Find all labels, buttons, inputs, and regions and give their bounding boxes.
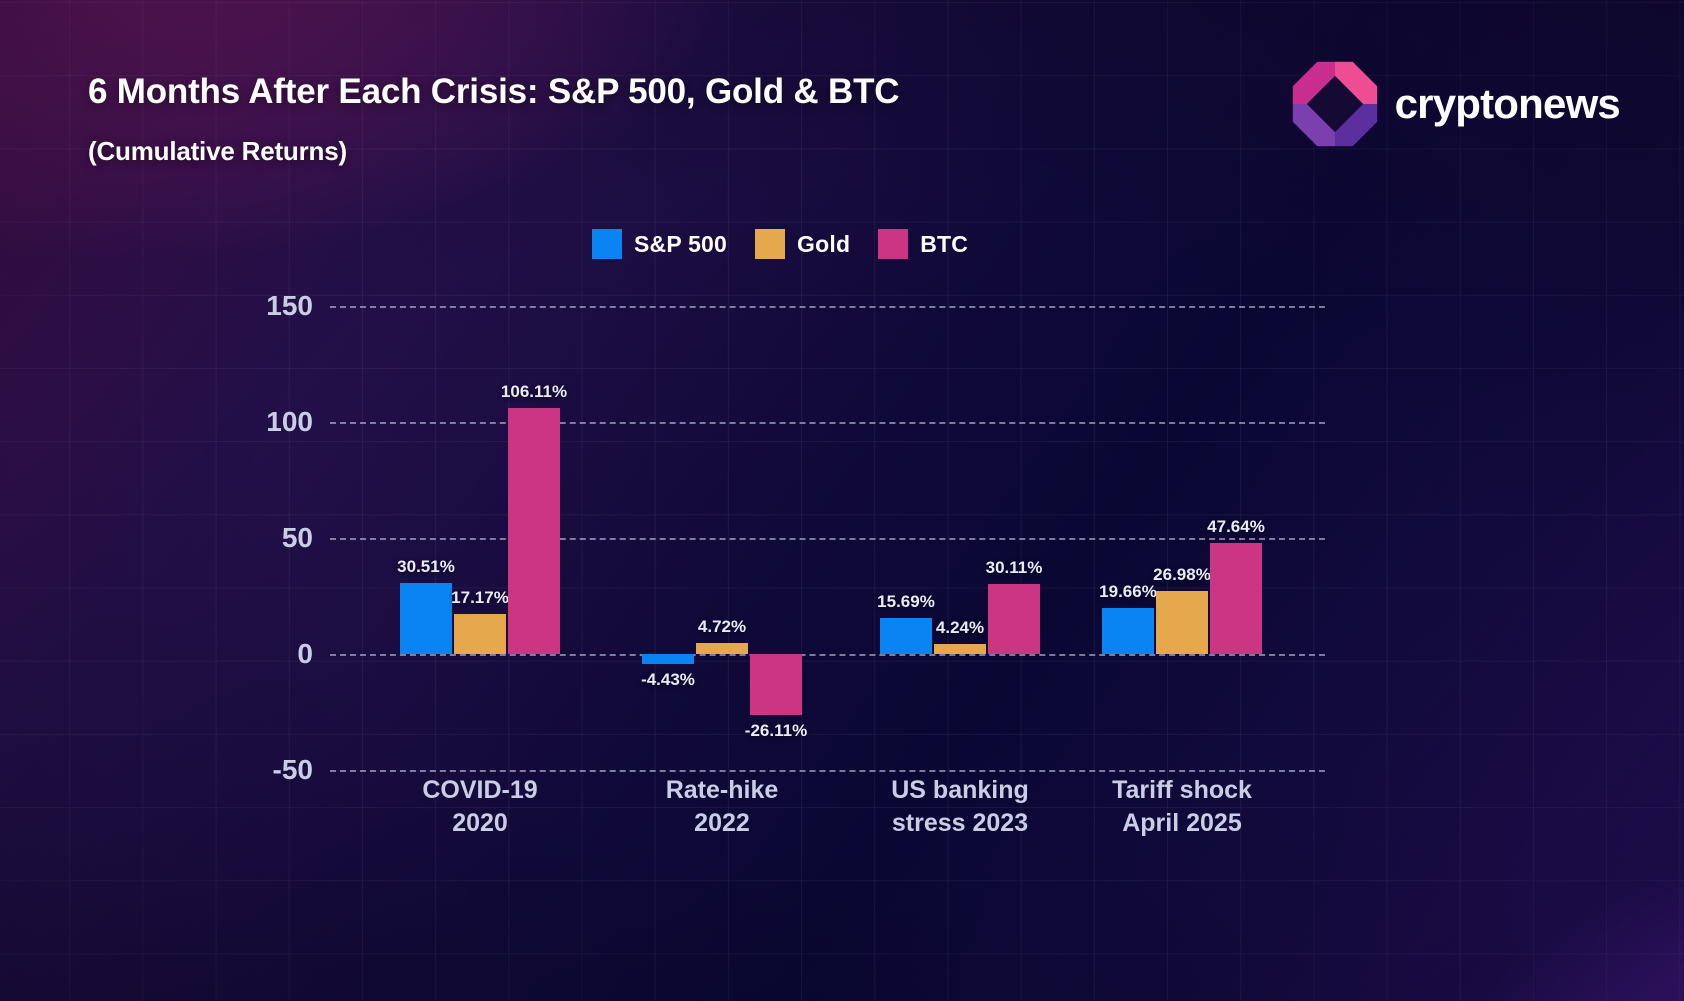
bar-gold[interactable]: 4.24% [934, 306, 986, 770]
bar-rect [934, 644, 986, 654]
y-axis-tick-label: -50 [273, 754, 313, 786]
y-axis-tick-label: 100 [266, 406, 313, 438]
y-axis-tick-label: 0 [297, 638, 313, 670]
x-axis-category-label: COVID-192020 [422, 774, 537, 841]
bar-rect [454, 614, 506, 654]
x-axis-category-line: COVID-19 [422, 774, 537, 807]
bar-value-label: 30.11% [986, 558, 1043, 578]
x-axis-category-line: US banking [891, 774, 1029, 807]
x-axis-category-line: Rate-hike [666, 774, 779, 807]
legend-swatch-icon [755, 229, 785, 259]
bar-value-label: 47.64% [1207, 517, 1265, 537]
x-axis-category-line: April 2025 [1112, 807, 1252, 840]
legend-label: Gold [797, 231, 850, 258]
bar-gold[interactable]: 17.17% [454, 306, 506, 770]
bar-value-label: 106.11% [501, 382, 567, 402]
legend-item-gold[interactable]: Gold [755, 229, 850, 259]
bar-value-label: 17.17% [451, 588, 509, 608]
bar-rect [400, 583, 452, 654]
bar-rect [1102, 608, 1154, 654]
x-axis-category-line: 2020 [422, 807, 537, 840]
cryptonews-hexagon-logo-icon [1291, 60, 1379, 148]
bar-group: 30.51%17.17%106.11%COVID-192020 [400, 306, 560, 770]
bar-rect [1210, 543, 1262, 654]
bar-s-p-500[interactable]: 30.51% [400, 306, 452, 770]
bar-value-label: 15.69% [877, 592, 935, 612]
bar-rect [696, 643, 748, 654]
bar-s-p-500[interactable]: 19.66% [1102, 306, 1154, 770]
cryptonews-logo: cryptonews [1291, 60, 1620, 148]
bar-value-label: -26.11% [745, 721, 807, 741]
bar-rect [880, 618, 932, 654]
chart-subtitle: (Cumulative Returns) [88, 136, 347, 167]
bar-s-p-500[interactable]: -4.43% [642, 306, 694, 770]
bar-s-p-500[interactable]: 15.69% [880, 306, 932, 770]
legend-swatch-icon [878, 229, 908, 259]
bar-group: 19.66%26.98%47.64%Tariff shockApril 2025 [1102, 306, 1262, 770]
bar-value-label: 19.66% [1099, 582, 1157, 602]
x-axis-category-line: 2022 [666, 807, 779, 840]
legend-item-btc[interactable]: BTC [878, 229, 968, 259]
bar-value-label: 4.24% [936, 618, 984, 638]
legend-label: BTC [920, 231, 968, 258]
chart-legend: S&P 500GoldBTC [592, 229, 968, 259]
bar-group: -4.43%4.72%-26.11%Rate-hike2022 [642, 306, 802, 770]
bar-btc[interactable]: 47.64% [1210, 306, 1262, 770]
bar-btc[interactable]: 30.11% [988, 306, 1040, 770]
cryptonews-wordmark: cryptonews [1395, 80, 1620, 128]
bar-value-label: -4.43% [641, 670, 695, 690]
x-axis-category-label: Tariff shockApril 2025 [1112, 774, 1252, 841]
legend-label: S&P 500 [634, 231, 727, 258]
gridline--50 [330, 770, 1325, 772]
bar-rect [988, 584, 1040, 654]
bar-rect [750, 654, 802, 715]
bar-value-label: 26.98% [1153, 565, 1211, 585]
chart-plot-area: 150100500-5030.51%17.17%106.11%COVID-192… [330, 306, 1325, 770]
x-axis-category-label: US bankingstress 2023 [891, 774, 1029, 841]
bar-btc[interactable]: -26.11% [750, 306, 802, 770]
bar-rect [642, 654, 694, 664]
bar-rect [1156, 591, 1208, 654]
x-axis-category-label: Rate-hike2022 [666, 774, 779, 841]
x-axis-category-line: Tariff shock [1112, 774, 1252, 807]
bar-rect [508, 408, 560, 654]
chart-header: 6 Months After Each Crisis: S&P 500, Gol… [0, 0, 1684, 200]
bar-group: 15.69%4.24%30.11%US bankingstress 2023 [880, 306, 1040, 770]
bar-value-label: 30.51% [397, 557, 455, 577]
bar-btc[interactable]: 106.11% [508, 306, 560, 770]
bar-value-label: 4.72% [698, 617, 746, 637]
y-axis-tick-label: 50 [282, 522, 313, 554]
bar-gold[interactable]: 4.72% [696, 306, 748, 770]
x-axis-category-line: stress 2023 [891, 807, 1029, 840]
y-axis-tick-label: 150 [266, 290, 313, 322]
legend-item-s-p-500[interactable]: S&P 500 [592, 229, 727, 259]
legend-swatch-icon [592, 229, 622, 259]
bar-gold[interactable]: 26.98% [1156, 306, 1208, 770]
chart-title: 6 Months After Each Crisis: S&P 500, Gol… [88, 72, 899, 112]
